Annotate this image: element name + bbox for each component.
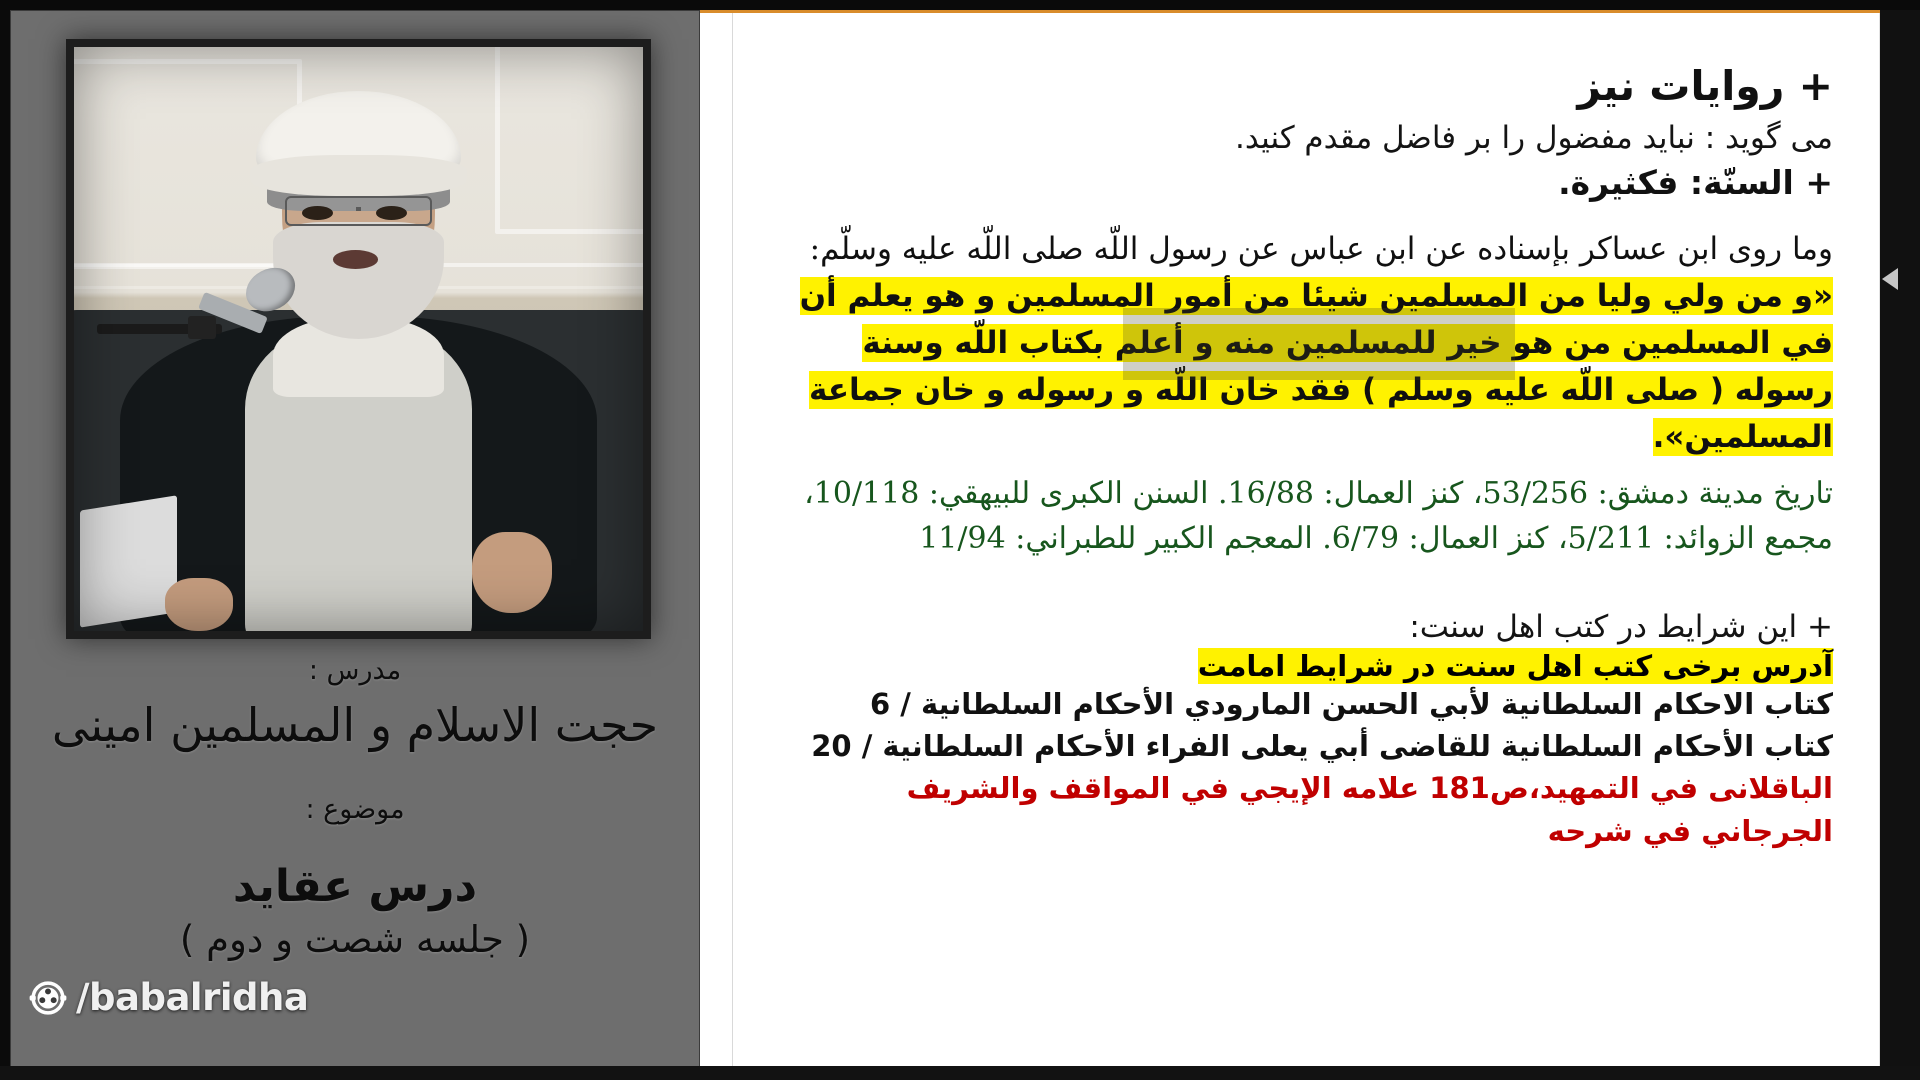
film-reel-icon (27, 977, 69, 1019)
teacher-label: مدرس : (11, 651, 699, 692)
slide-panel[interactable]: مدرس : حجت الاسلام و المسلمين امينى موضو… (10, 10, 700, 1068)
laptop-shape (80, 495, 177, 627)
citation-line-1: تاريخ مدينة دمشق: 53/256، كنز العمال: 16… (767, 471, 1833, 516)
microphone-clip (188, 316, 216, 339)
left-arrow-marker[interactable] (1882, 268, 1898, 290)
watermark-handle: /babalridha (76, 976, 308, 1019)
wall-moulding-right (495, 47, 643, 234)
sunnah-line: + السنّة: فكثيرة. (767, 160, 1833, 206)
citation-line-2: مجمع الزوائد: 5/211، كنز العمال: 6/79. ا… (767, 516, 1833, 561)
hand-left-shape (165, 578, 233, 631)
slide-caption-block: مدرس : حجت الاسلام و المسلمين امينى موضو… (11, 651, 699, 965)
persian-line-1: مى گويد : نبايد مفضول را بر فاضل مقدم كن… (767, 116, 1833, 160)
sunni-section-title: آدرس برخى كتب اهل سنت در شرايط امامت (1198, 648, 1833, 684)
document-page[interactable]: + روايات نيز مى گويد : نبايد مفضول را بر… (732, 13, 1880, 1068)
sunni-entry-2: كتاب الأحكام السلطانية للقاضى أبي يعلى ا… (767, 725, 1833, 767)
spacer-3 (767, 561, 1833, 605)
window-bottom-border (0, 1066, 1920, 1080)
red-entry-2: الجرجاني في شرحه (767, 810, 1833, 852)
speaker-photo-frame (66, 39, 651, 639)
subject-name: درس عقايد (11, 858, 699, 915)
session-number: ( جلسه شصت و دوم ) (11, 915, 699, 965)
narration-intro: وما روى ابن عساكر بإسناده عن ابن عباس عن… (810, 231, 1833, 267)
app-root: مدرس : حجت الاسلام و المسلمين امينى موضو… (0, 0, 1920, 1080)
narration-block: وما روى ابن عساكر بإسناده عن ابن عباس عن… (767, 226, 1833, 462)
caption-gap-2 (11, 832, 699, 858)
turban-band-shape (250, 155, 466, 196)
mouth-shape (333, 250, 379, 269)
sunni-entry-1: كتاب الاحكام السلطانية لأبي الحسن المارو… (767, 683, 1833, 725)
window-top-border (0, 0, 1920, 10)
caption-gap-1 (11, 756, 699, 790)
spacer-1 (767, 206, 1833, 226)
teacher-name: حجت الاسلام و المسلمين امينى (11, 694, 699, 756)
subject-label: موضوع : (11, 790, 699, 831)
red-entry-1: الباقلانى في التمهيد،ص181 علامه الإيجي ف… (767, 767, 1833, 809)
speaker-photo (74, 47, 643, 631)
sunni-section-intro: + اين شرايط در كتب اهل سنت: (767, 605, 1833, 649)
watermark: /babalridha (27, 976, 308, 1019)
hand-right-shape (472, 532, 552, 614)
window-right-border (1880, 0, 1920, 1080)
narration-quote-highlight: «و من ولي وليا من المسلمين شيئا من أمور … (800, 277, 1833, 456)
sunni-section-title-wrap: آدرس برخى كتب اهل سنت در شرايط امامت (767, 649, 1833, 683)
document-panel[interactable]: + روايات نيز مى گويد : نبايد مفضول را بر… (700, 10, 1900, 1072)
spacer-2 (767, 461, 1833, 471)
document-heading: + روايات نيز (767, 61, 1833, 112)
